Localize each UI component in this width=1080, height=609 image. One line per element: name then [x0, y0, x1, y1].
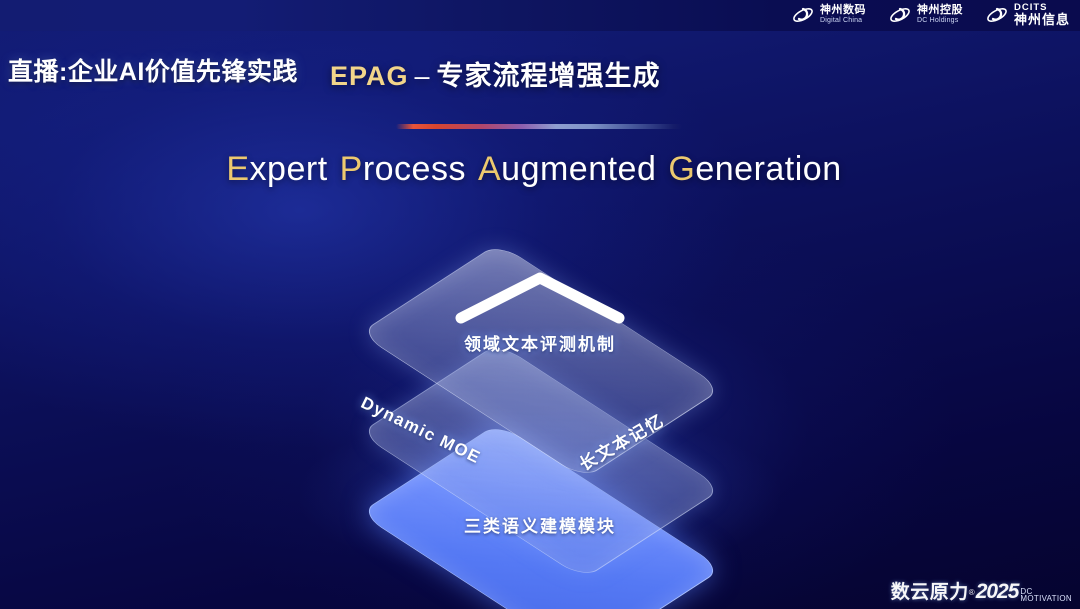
partner-logo-dcits: DCITS 神州信息	[985, 3, 1070, 27]
partner-name-en: Digital China	[820, 17, 866, 25]
swirl-logo-icon	[888, 3, 912, 27]
brand-sub: DC MOTIVATION	[1020, 588, 1072, 604]
headline-chinese: 专家流程增强生成	[437, 61, 661, 91]
partner-logo-text: 神州控股 DC Holdings	[917, 5, 963, 24]
headline-dash: –	[415, 61, 431, 91]
page-title: EPAG–专家流程增强生成	[330, 54, 661, 93]
divider	[396, 124, 682, 129]
subtitle: ExpertProcessAugmentedGeneration	[0, 150, 1080, 189]
subtitle-rest: eneration	[695, 150, 841, 188]
brand-sub-line2: MOTIVATION	[1020, 595, 1072, 603]
stack-label-bottom: 三类语义建模模块	[290, 512, 790, 537]
subtitle-cap: A	[478, 150, 501, 188]
isometric-layer-stack: 领域文本评测机制 Dynamic MOE 长文本记忆 三类语义建模模块	[290, 222, 790, 562]
brand-logo-watermark: 数云原力 ® 2025 DC MOTIVATION	[891, 577, 1072, 604]
swirl-logo-icon	[791, 3, 815, 27]
partner-logo-text: DCITS 神州信息	[1014, 3, 1070, 27]
live-stream-title: 直播:企业AI价值先锋实践	[8, 52, 298, 88]
subtitle-rest: rocess	[363, 150, 466, 188]
subtitle-cap: G	[668, 150, 695, 188]
subtitle-cap: E	[226, 150, 249, 188]
subtitle-cap: P	[340, 150, 363, 188]
subtitle-word-expert: Expert	[226, 150, 327, 188]
partner-logo-dc-holdings: 神州控股 DC Holdings	[888, 3, 963, 27]
partner-name-en: DC Holdings	[917, 17, 963, 25]
subtitle-rest: ugmented	[501, 150, 656, 188]
partner-logo-text: 神州数码 Digital China	[820, 5, 866, 24]
subtitle-word-augmented: Augmented	[478, 150, 656, 188]
headline-acronym: EPAG	[330, 61, 409, 91]
partner-name-cn: 神州信息	[1014, 13, 1070, 27]
brand-registered-mark: ®	[969, 588, 975, 597]
subtitle-word-generation: Generation	[668, 150, 841, 188]
partner-name-cn: 神州控股	[917, 5, 963, 17]
partner-logo-digital-china: 神州数码 Digital China	[791, 3, 866, 27]
slide-canvas: 数云原力 ® 2025 DC MOTIVATION 神州数码 Digital C…	[0, 0, 1080, 609]
partner-name-cn: 神州数码	[820, 5, 866, 17]
stack-label-top: 领域文本评测机制	[290, 330, 790, 355]
chevron-up-icon	[453, 268, 627, 326]
partner-logo-group: 神州数码 Digital China 神州控股 DC Holdings	[791, 3, 1070, 27]
brand-year: 2025	[976, 580, 1019, 604]
subtitle-word-process: Process	[340, 150, 466, 188]
swirl-logo-icon	[985, 3, 1009, 27]
brand-name-cn: 数云原力	[891, 577, 969, 604]
subtitle-rest: xpert	[250, 150, 328, 188]
